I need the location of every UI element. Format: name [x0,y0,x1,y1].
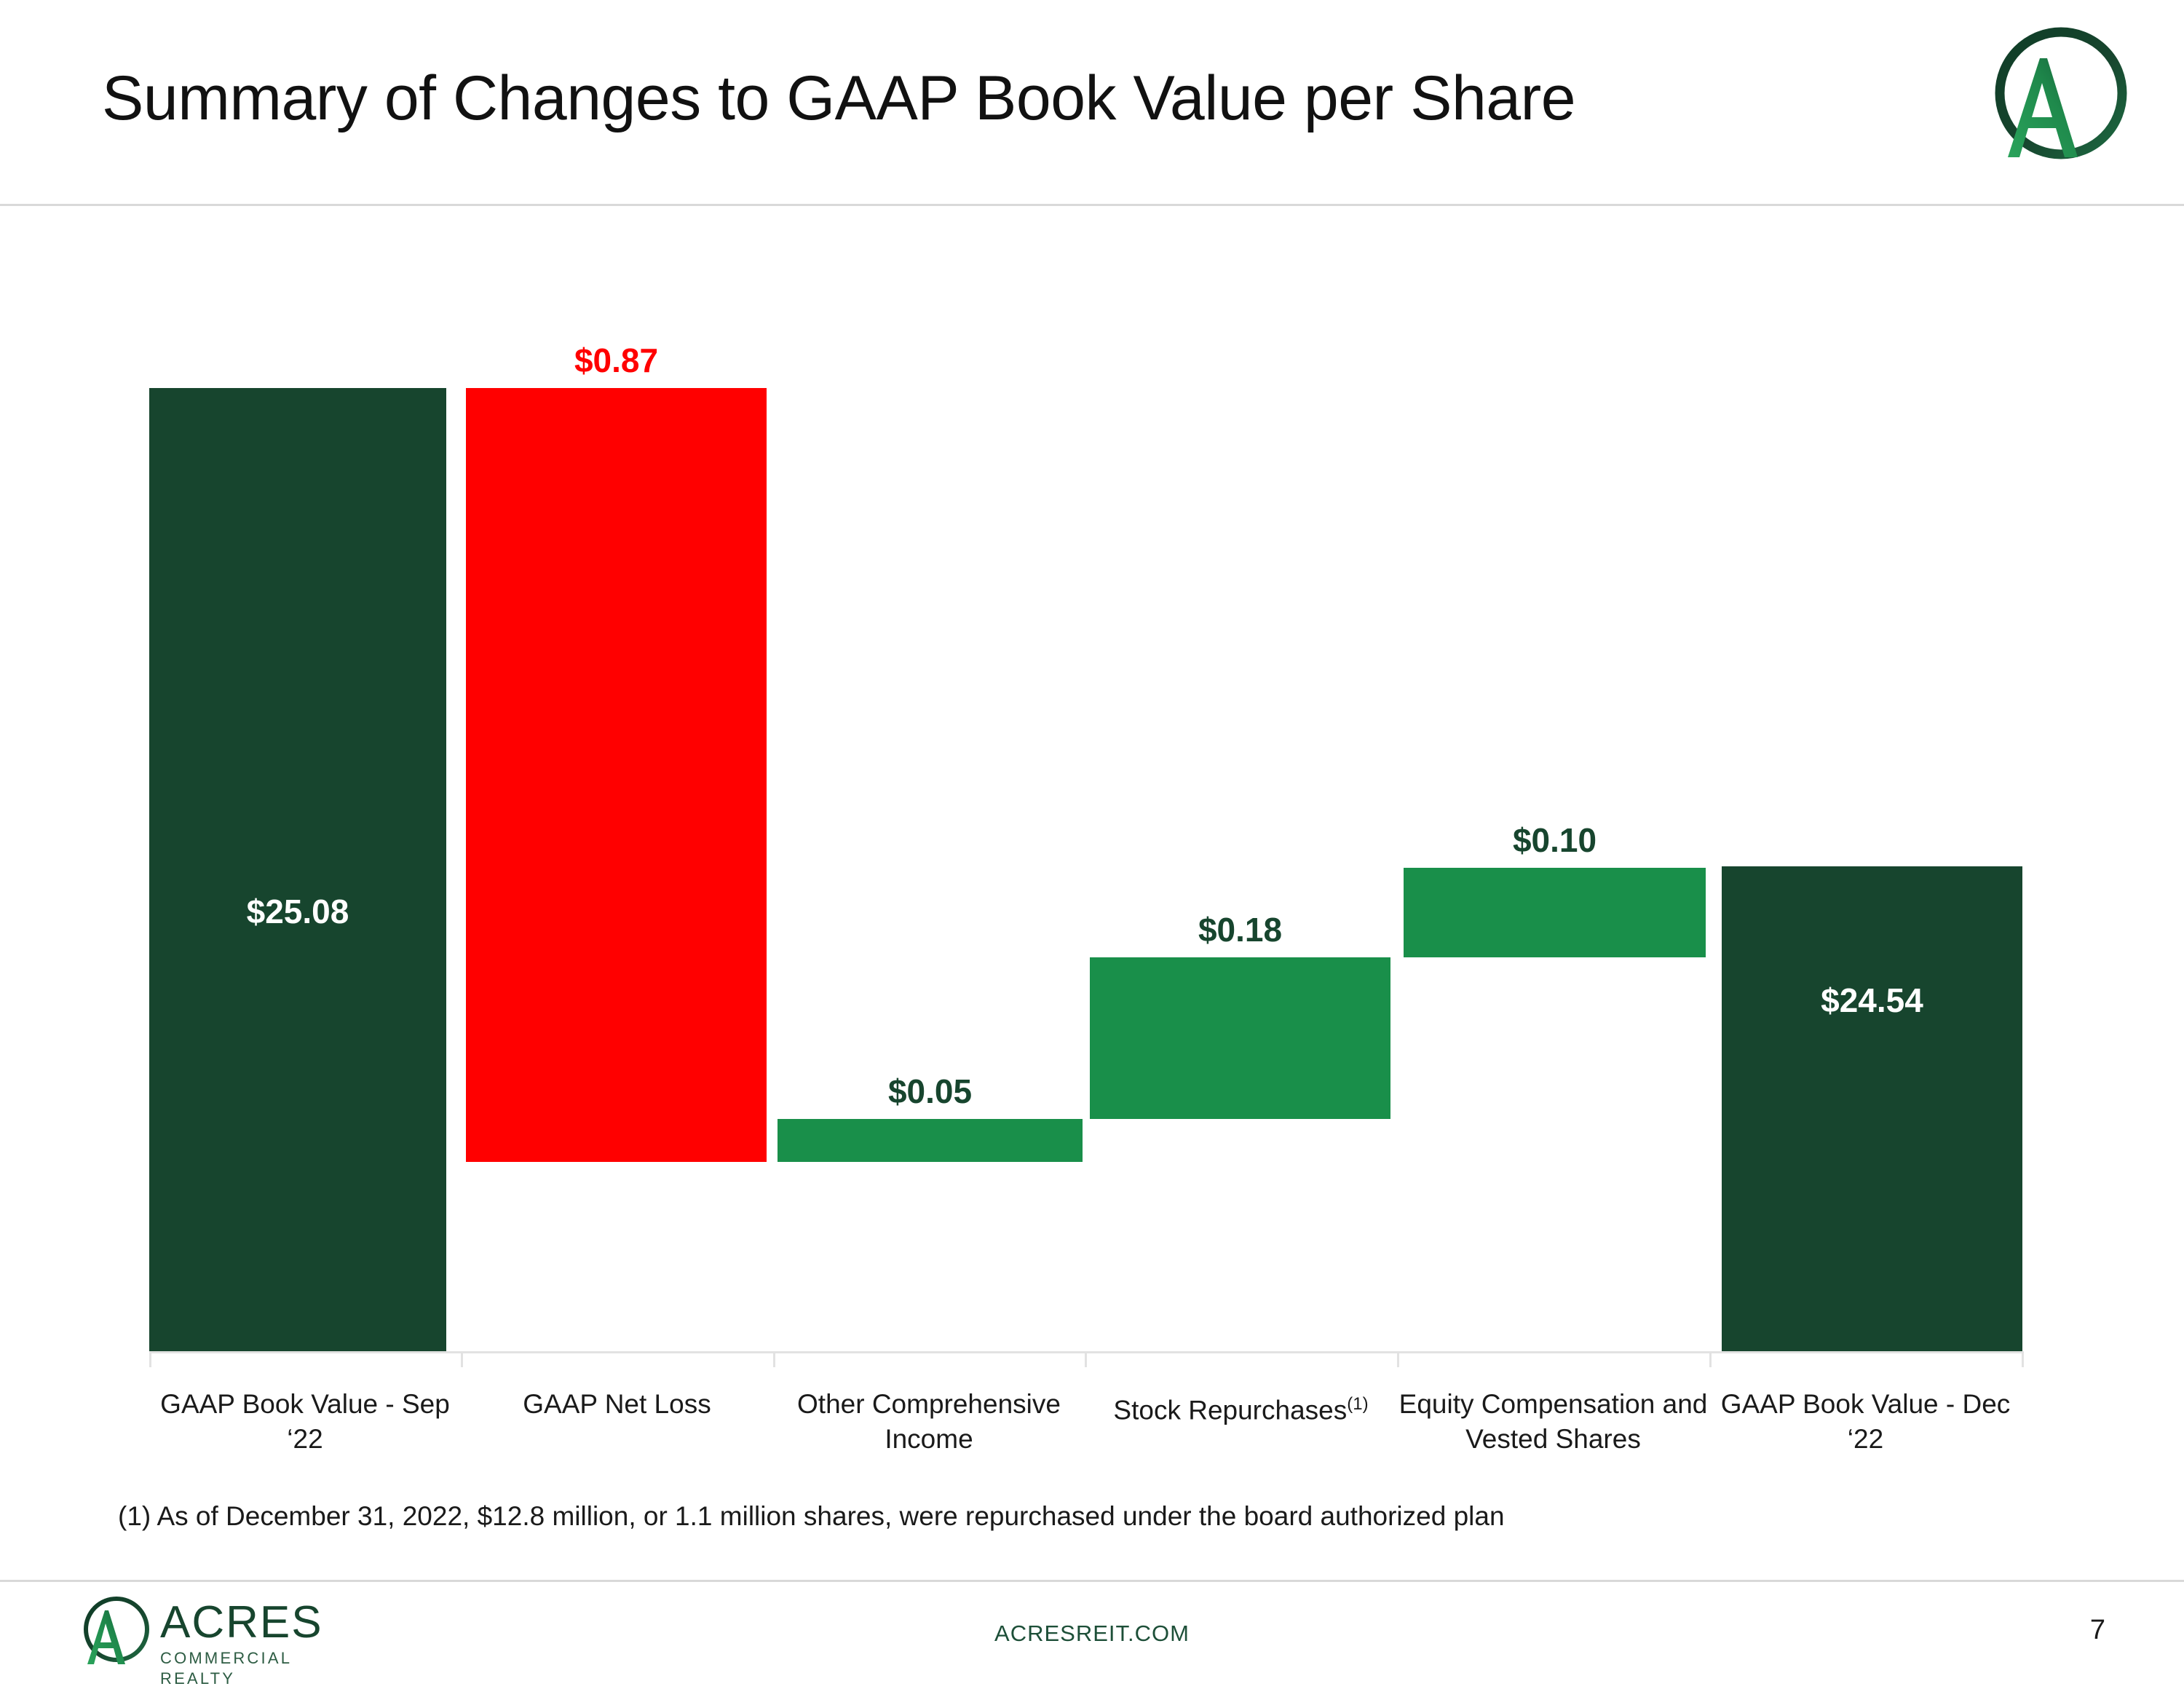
axis-tick-3 [1085,1351,1087,1367]
bar-gaap-book-value-sep[interactable] [149,388,446,1351]
page-title: Summary of Changes to GAAP Book Value pe… [102,63,1575,135]
axis-category-label-4-line2: Vested Shares [1465,1424,1641,1454]
axis-category-label-1: GAAP Net Loss [461,1387,773,1422]
footer-divider [0,1580,2184,1582]
bar-value-label-5: $24.54 [1722,981,2022,1020]
axis-tick-4 [1397,1351,1399,1367]
bar-value-label-4: $0.10 [1404,820,1706,860]
axis-tick-5 [1709,1351,1712,1367]
axis-category-label-5-line1: GAAP Book Value - Dec ‘22 [1721,1389,2011,1454]
axis-category-label-2: Other Comprehensive Income [773,1387,1085,1457]
header-divider [0,204,2184,206]
axis-category-label-1-line1: GAAP Net Loss [523,1389,711,1419]
axis-category-label-4: Equity Compensation and Vested Shares [1397,1387,1709,1457]
axis-tick-0 [149,1351,151,1367]
axis-tick-1 [461,1351,463,1367]
axis-category-label-3-line1: Stock Repurchases [1113,1395,1347,1425]
slide-header: Summary of Changes to GAAP Book Value pe… [0,0,2184,205]
footer-website-url: ACRESREIT.COM [0,1621,2184,1647]
bar-value-label-2: $0.05 [778,1072,1083,1111]
acres-circle-a-logo-icon [1979,20,2136,178]
axis-category-label-3-footnote-marker: (1) [1347,1394,1368,1414]
axis-tick-6 [2022,1351,2024,1367]
bar-equity-compensation[interactable] [1404,868,1706,957]
axis-category-label-0-line1: GAAP Book Value - Sep ‘22 [160,1389,450,1454]
chart-plot-area: $25.08 $0.87 $0.05 $0.18 $0.10 $24.54 [149,218,2024,1351]
bar-gaap-book-value-dec[interactable] [1722,866,2022,1351]
axis-category-label-0: GAAP Book Value - Sep ‘22 [149,1387,461,1457]
bar-value-label-1: $0.87 [466,341,767,380]
axis-category-label-5: GAAP Book Value - Dec ‘22 [1709,1387,2022,1457]
axis-category-label-2-line1: Other Comprehensive [797,1389,1061,1419]
waterfall-chart: $25.08 $0.87 $0.05 $0.18 $0.10 $24.54 [0,218,2184,1383]
page-number: 7 [2090,1615,2105,1646]
axis-tick-2 [773,1351,775,1367]
footer-brand-tagline: COMMERCIAL REALTY [160,1648,349,1689]
bar-stock-repurchases[interactable] [1090,957,1390,1119]
bar-other-comprehensive-income[interactable] [778,1119,1083,1162]
footnote-text: (1) As of December 31, 2022, $12.8 milli… [118,1501,1505,1532]
bar-value-label-0: $25.08 [149,892,446,931]
bar-gaap-net-loss[interactable] [466,388,767,1162]
axis-category-label-4-line1: Equity Compensation and [1399,1389,1708,1419]
bar-value-label-3: $0.18 [1090,910,1390,949]
axis-category-label-2-line2: Income [885,1424,973,1454]
axis-category-label-3: Stock Repurchases(1) [1085,1387,1397,1428]
